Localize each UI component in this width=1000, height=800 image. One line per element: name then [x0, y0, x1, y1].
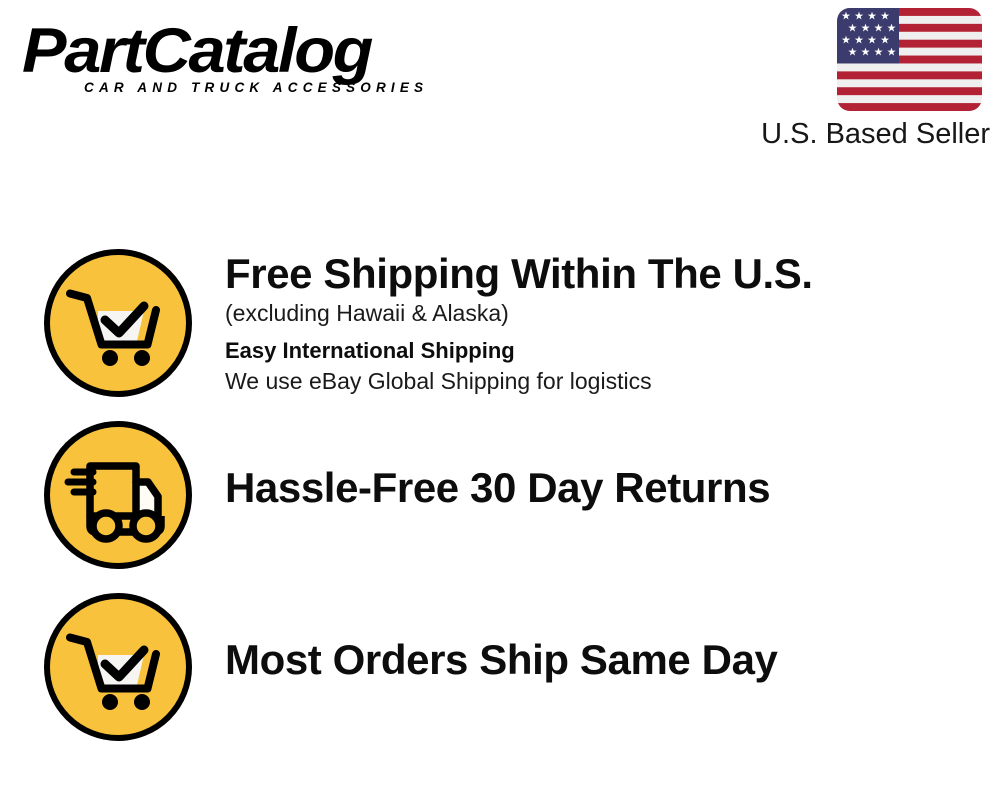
shopping-cart-check-icon — [43, 248, 193, 398]
feature-title: Hassle-Free 30 Day Returns — [225, 464, 770, 512]
feature-text-block: Most Orders Ship Same Day — [225, 592, 778, 684]
brand-logo[interactable]: PartCatalog CAR AND TRUCK ACCESSORIES — [22, 18, 492, 95]
shopping-cart-check-icon — [43, 592, 193, 742]
spacer — [225, 328, 813, 336]
feature-subtext: We use eBay Global Shipping for logistic… — [225, 366, 813, 396]
us-based-seller-label: U.S. Based Seller — [722, 117, 990, 151]
feature-row: Hassle-Free 30 Day Returns — [0, 420, 1000, 570]
us-based-seller-badge: U.S. Based Seller — [722, 8, 992, 151]
us-flag-icon — [837, 8, 982, 111]
feature-text-block: Hassle-Free 30 Day Returns — [225, 420, 770, 512]
delivery-truck-icon — [43, 420, 193, 570]
feature-subnote: (excluding Hawaii & Alaska) — [225, 298, 813, 328]
page-header: PartCatalog CAR AND TRUCK ACCESSORIES — [0, 0, 1000, 170]
feature-title: Most Orders Ship Same Day — [225, 636, 778, 684]
feature-subheading: Easy International Shipping — [225, 336, 813, 366]
feature-row: Most Orders Ship Same Day — [0, 592, 1000, 742]
brand-wordmark: PartCatalog — [22, 18, 520, 84]
feature-title: Free Shipping Within The U.S. — [225, 250, 813, 298]
feature-row: Free Shipping Within The U.S. (excluding… — [0, 248, 1000, 398]
feature-text-block: Free Shipping Within The U.S. (excluding… — [225, 248, 813, 396]
